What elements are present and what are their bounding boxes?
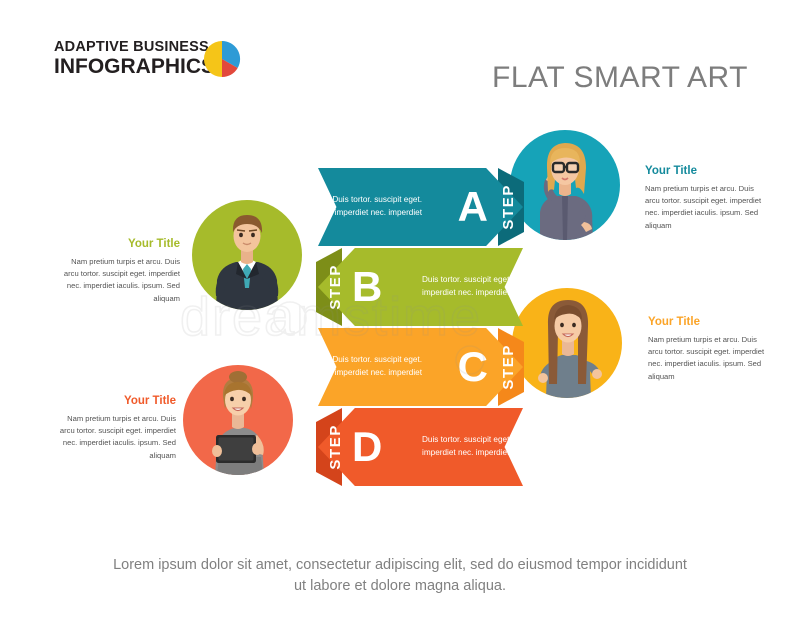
- footer-caption: Lorem ipsum dolor sit amet, consectetur …: [0, 555, 800, 597]
- arrow-step-word-text-b: STEP: [328, 264, 343, 310]
- arrow-description-d: Duis tortor. suscipit eget. imperdiet ne…: [422, 408, 514, 486]
- callout-title-right-lower: Your Title: [648, 316, 766, 329]
- callout-body-left-upper: Nam pretium turpis et arcu. Duis arcu to…: [62, 256, 180, 305]
- businessman-illustration: [192, 200, 302, 310]
- arrow-letter-text-c: C: [458, 346, 488, 388]
- arrow-step-d[interactable]: Duis tortor. suscipit eget. imperdiet ne…: [300, 408, 540, 486]
- woman-tablet-illustration: [183, 365, 293, 475]
- callout-title-left-upper: Your Title: [62, 238, 180, 251]
- avatar-businessman: [192, 200, 302, 310]
- process-arrow-stack: Duis tortor. suscipit eget. imperdiet ne…: [300, 168, 540, 488]
- brand-line-1: ADAPTIVE BUSINESS: [54, 40, 314, 56]
- arrow-letter-text-d: D: [352, 426, 382, 468]
- callout-title-left-lower: Your Title: [58, 395, 176, 408]
- callout-body-right-lower: Nam pretium turpis et arcu. Duis arcu to…: [648, 334, 766, 383]
- arrow-letter-b: B: [352, 248, 382, 326]
- arrow-description-c: Duis tortor. suscipit eget. imperdiet ne…: [330, 328, 422, 406]
- arrow-letter-text-a: A: [458, 186, 488, 228]
- arrow-step-word-c: STEP: [501, 328, 516, 406]
- brand-logotype: ADAPTIVE BUSINESS INFOGRAPHICS: [54, 40, 314, 78]
- callout-body-left-lower: Nam pretium turpis et arcu. Duis arcu to…: [58, 413, 176, 462]
- arrow-description-a: Duis tortor. suscipit eget. imperdiet ne…: [330, 168, 422, 246]
- callout-left-lower: Your Title Nam pretium turpis et arcu. D…: [58, 395, 176, 462]
- arrow-description-b: Duis tortor. suscipit eget. imperdiet ne…: [422, 248, 514, 326]
- callout-body-right-upper: Nam pretium turpis et arcu. Duis arcu to…: [645, 183, 763, 232]
- avatar-woman-tablet: [183, 365, 293, 475]
- arrow-step-a[interactable]: Duis tortor. suscipit eget. imperdiet ne…: [300, 168, 540, 246]
- arrow-letter-d: D: [352, 408, 382, 486]
- arrow-step-word-text-c: STEP: [501, 344, 516, 390]
- page-title: FLAT SMART ART: [492, 61, 748, 95]
- arrow-letter-a: A: [458, 168, 488, 246]
- arrow-step-word-d: STEP: [328, 408, 343, 486]
- arrow-step-c[interactable]: Duis tortor. suscipit eget. imperdiet ne…: [300, 328, 540, 406]
- arrow-step-word-a: STEP: [501, 168, 516, 246]
- brand-line-2: INFOGRAPHICS: [54, 56, 314, 79]
- callout-right-upper: Your Title Nam pretium turpis et arcu. D…: [645, 165, 763, 232]
- pie-chart-icon: [203, 40, 241, 78]
- arrow-letter-text-b: B: [352, 266, 382, 308]
- callout-title-right-upper: Your Title: [645, 165, 763, 178]
- arrow-step-word-text-d: STEP: [328, 424, 343, 470]
- arrow-step-b[interactable]: Duis tortor. suscipit eget. imperdiet ne…: [300, 248, 540, 326]
- callout-left-upper: Your Title Nam pretium turpis et arcu. D…: [62, 238, 180, 305]
- arrow-step-word-text-a: STEP: [501, 184, 516, 230]
- callout-right-lower: Your Title Nam pretium turpis et arcu. D…: [648, 316, 766, 383]
- arrow-step-word-b: STEP: [328, 248, 343, 326]
- arrow-letter-c: C: [458, 328, 488, 406]
